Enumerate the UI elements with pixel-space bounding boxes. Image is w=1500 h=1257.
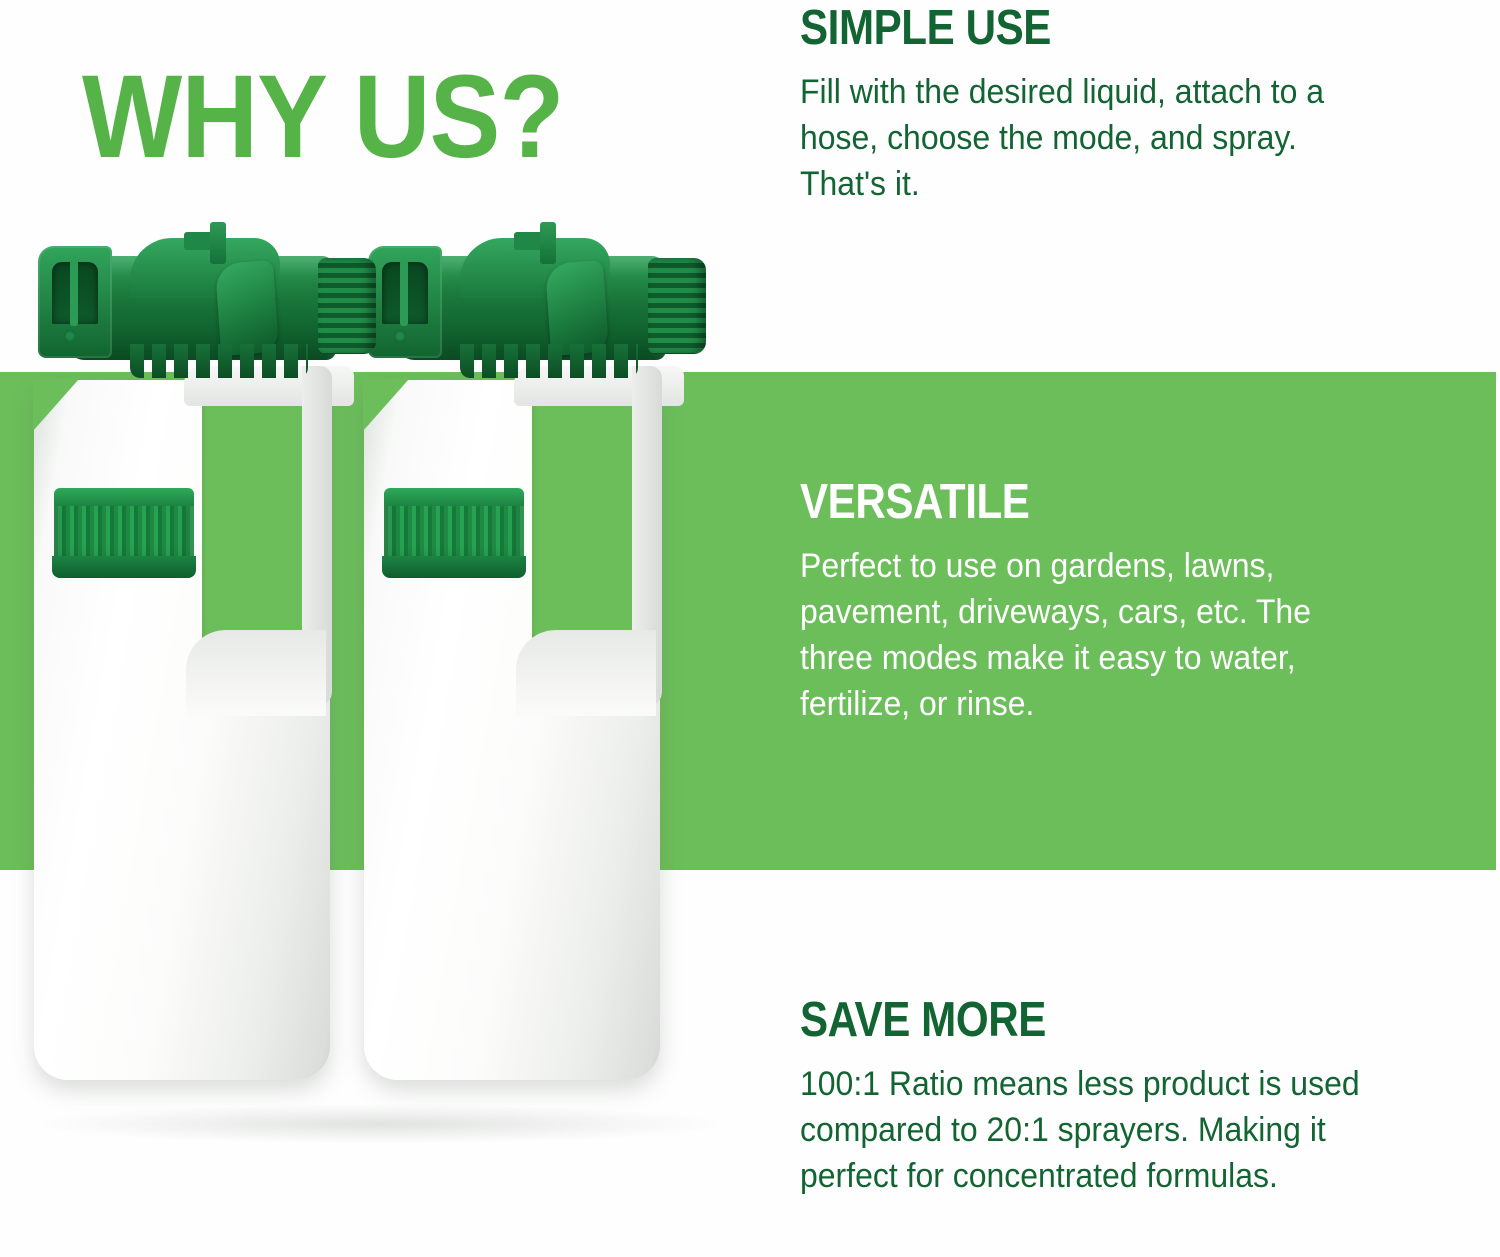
bottle-handle-curve (516, 630, 656, 716)
inlet-bar (70, 260, 78, 326)
spray-head-skirt (460, 344, 638, 378)
product-shadow (30, 1104, 730, 1144)
inlet-bar (400, 260, 408, 326)
page-title: WHY US? (82, 58, 563, 176)
inlet-pin (394, 330, 406, 342)
feature-body-simple-use: Fill with the desired liquid, attach to … (800, 70, 1379, 208)
nozzle-dial-2 (648, 258, 706, 354)
sprayer-bottle-2 (364, 380, 660, 1080)
bottle-cap-1 (54, 488, 194, 572)
trigger-lever-1 (215, 260, 279, 356)
hose-inlet-1 (38, 246, 112, 358)
bottle-cap-2 (384, 488, 524, 572)
trigger-lever-2 (545, 260, 609, 356)
feature-heading-versatile: VERSATILE (800, 478, 1330, 528)
feature-body-save-more: 100:1 Ratio means less product is used c… (800, 1062, 1379, 1200)
spray-head-post (540, 222, 556, 264)
cap-bottom (382, 556, 526, 578)
bottle-handle-curve (186, 630, 326, 716)
feature-body-versatile: Perfect to use on gardens, lawns, paveme… (800, 544, 1379, 728)
infographic-canvas: WHY US? (0, 0, 1500, 1257)
spray-head-1 (34, 228, 384, 396)
cap-bottom (52, 556, 196, 578)
product-image (0, 228, 760, 1118)
feature-simple-use: SIMPLE USE Fill with the desired liquid,… (800, 4, 1416, 208)
nozzle-dial-1 (318, 258, 376, 354)
spray-head-skirt (130, 344, 308, 378)
spray-head-2 (364, 228, 714, 396)
cap-top (54, 488, 194, 506)
feature-save-more: SAVE MORE 100:1 Ratio means less product… (800, 996, 1416, 1200)
feature-heading-simple-use: SIMPLE USE (800, 4, 1330, 54)
cap-top (384, 488, 524, 506)
inlet-pin (64, 330, 76, 342)
spray-head-post (210, 222, 226, 264)
sprayer-bottle-1 (34, 380, 330, 1080)
feature-heading-save-more: SAVE MORE (800, 996, 1330, 1046)
feature-versatile: VERSATILE Perfect to use on gardens, law… (800, 478, 1416, 728)
